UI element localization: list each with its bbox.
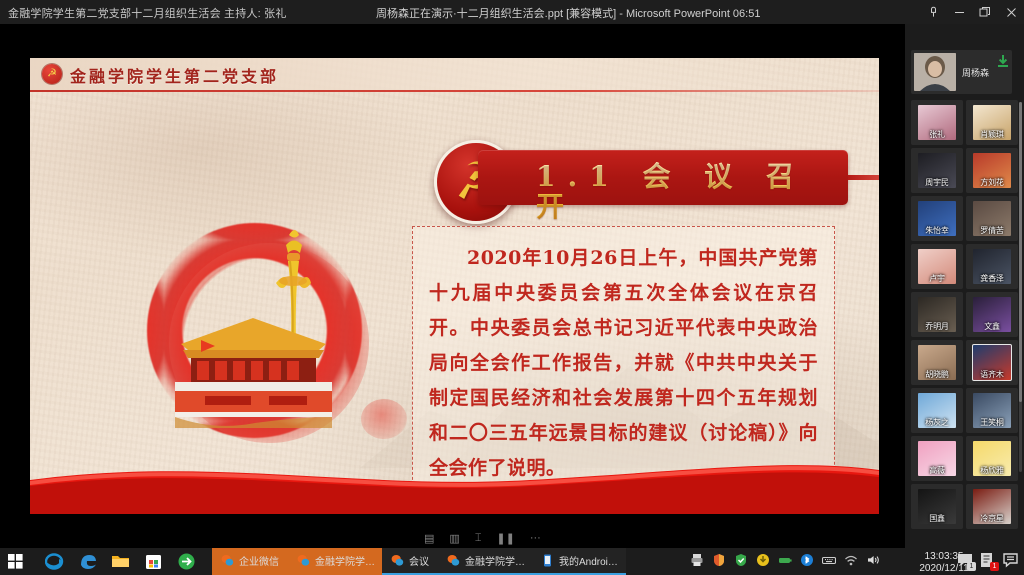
self-video-tile[interactable]: 周杨森	[911, 50, 1012, 94]
party-emblem-small-icon: ☭	[42, 64, 62, 84]
green-browser-icon[interactable]	[177, 552, 196, 571]
participant-name-label: 罗倩苦	[966, 225, 1018, 236]
participant-tile[interactable]: 胡晓鹏	[911, 340, 963, 385]
save-icon[interactable]: ▤	[424, 532, 434, 545]
participant-tile[interactable]: 冷京星	[966, 484, 1018, 529]
participant-name-label: 周宇民	[911, 177, 963, 188]
pointer-icon[interactable]: ⌶	[475, 532, 482, 545]
participant-name-label: 文鑫	[966, 321, 1018, 332]
participant-tile[interactable]: 国鑫	[911, 484, 963, 529]
minimize-icon[interactable]	[946, 0, 972, 24]
start-button[interactable]	[8, 554, 23, 569]
section-title-text: 1.1 会 议 召 开	[536, 162, 848, 222]
keyboard-icon[interactable]	[822, 553, 836, 567]
close-icon[interactable]	[998, 0, 1024, 24]
wechat-work-icon	[221, 554, 234, 567]
printer-icon[interactable]	[690, 553, 704, 567]
store-icon[interactable]	[144, 552, 163, 571]
file-explorer-icon[interactable]	[111, 552, 130, 571]
participant-name-label: 胡晓鹏	[911, 369, 963, 380]
participant-name-label: 冷京星	[966, 513, 1018, 524]
participant-tile[interactable]: 杨灰之	[911, 388, 963, 433]
system-tray	[690, 553, 880, 567]
notification-area: 1 1	[957, 552, 1020, 569]
wifi-icon[interactable]	[844, 553, 858, 567]
participant-name-label: 王笑桐	[966, 417, 1018, 428]
participant-grid: 张礼肖颖琪周宇民方刘花朱怡幸罗倩苦卢宇龚香泽乔明月文鑫胡晓鹏语齐木杨灰之王笑桐高…	[911, 100, 1018, 529]
tiananmen-artwork	[125, 203, 415, 453]
taskbar-item-label: 金融学院学…	[315, 553, 375, 568]
download-icon[interactable]	[998, 55, 1008, 67]
participant-tile[interactable]: 张礼	[911, 100, 963, 145]
participant-name-label: 方刘花	[966, 177, 1018, 188]
participant-name-label: 朱怡幸	[911, 225, 963, 236]
taskbar-item[interactable]: 金融学院学…	[438, 548, 532, 575]
slide-stage: ☭ 金融学院学生第二党支部	[0, 24, 905, 548]
panel-scrollbar[interactable]	[1019, 102, 1022, 472]
taskbar-item[interactable]: 会议	[382, 548, 438, 575]
update-icon[interactable]	[756, 553, 770, 567]
pause-icon[interactable]: ❚❚	[496, 532, 514, 545]
window-titlebar: 金融学院学生第二党支部十二月组织生活会 主持人: 张礼 周杨森正在演示·十二月组…	[0, 0, 1024, 24]
annotate-icon[interactable]: ▥	[449, 532, 459, 545]
shield-color-icon[interactable]	[712, 553, 726, 567]
security-icon[interactable]	[734, 553, 748, 567]
participant-name-label: 杨欣雅	[966, 465, 1018, 476]
participant-tile[interactable]: 龚香泽	[966, 244, 1018, 289]
participant-name-label: 杨灰之	[911, 417, 963, 428]
tiananmen-gate-icon	[161, 308, 346, 428]
quick-launch-icons	[45, 552, 196, 571]
section-title-banner: 1.1 会 议 召 开	[478, 150, 848, 205]
meeting-subject-label: 金融学院学生第二党支部十二月组织生活会 主持人: 张礼	[8, 5, 287, 21]
avatar	[914, 53, 956, 91]
participant-name-label: 肖颖琪	[966, 129, 1018, 140]
participant-tile[interactable]: 高薇	[911, 436, 963, 481]
participant-tile[interactable]: 罗倩苦	[966, 196, 1018, 241]
participant-name-label: 张礼	[911, 129, 963, 140]
presenter-toolbar[interactable]: ▤ ▥ ⌶ ❚❚ ···	[424, 532, 541, 545]
window-title: 周杨森正在演示·十二月组织生活会.ppt [兼容模式] - Microsoft …	[376, 5, 760, 21]
notes-badge-count: 1	[990, 562, 999, 571]
red-ribbon-decor	[30, 450, 879, 514]
participant-tile[interactable]: 朱怡幸	[911, 196, 963, 241]
participant-tile[interactable]: 王笑桐	[966, 388, 1018, 433]
message-badge[interactable]: 1	[957, 552, 974, 569]
participant-tile[interactable]: 卢宇	[911, 244, 963, 289]
taskbar-item[interactable]: 企业微信	[212, 548, 288, 575]
powerpoint-slide[interactable]: ☭ 金融学院学生第二党支部	[30, 58, 879, 514]
wechat-work-icon	[297, 554, 310, 567]
participant-name-label: 卢宇	[911, 273, 963, 284]
action-center-icon[interactable]	[1003, 552, 1020, 569]
restore-icon[interactable]	[972, 0, 998, 24]
taskbar-item[interactable]: 金融学院学…	[288, 548, 382, 575]
banner-accent-line	[848, 175, 879, 180]
taskbar-item-label: 我的Androi…	[559, 553, 618, 568]
participant-panel: 周杨森 张礼肖颖琪周宇民方刘花朱怡幸罗倩苦卢宇龚香泽乔明月文鑫胡晓鹏语齐木杨灰之…	[905, 24, 1024, 548]
participant-tile[interactable]: 语齐木	[966, 340, 1018, 385]
taskbar-item[interactable]: 我的Androi…	[532, 548, 626, 575]
slide-header-label: 金融学院学生第二党支部	[70, 63, 279, 87]
participant-tile[interactable]: 周宇民	[911, 148, 963, 193]
ie-icon[interactable]	[45, 552, 64, 571]
participant-tile[interactable]: 乔明月	[911, 292, 963, 337]
participant-name-label: 高薇	[911, 465, 963, 476]
edge-icon[interactable]	[78, 552, 97, 571]
phone-icon	[541, 554, 554, 567]
taskbar-item-label: 会议	[409, 553, 429, 568]
participant-name-label: 语齐木	[966, 369, 1018, 380]
taskbar-item-label: 企业微信	[239, 553, 279, 568]
participant-name-label: 龚香泽	[966, 273, 1018, 284]
notes-badge[interactable]: 1	[980, 552, 997, 569]
participant-name-label: 乔明月	[911, 321, 963, 332]
pin-icon[interactable]	[920, 0, 946, 24]
participant-tile[interactable]: 文鑫	[966, 292, 1018, 337]
more-icon[interactable]: ···	[530, 532, 541, 545]
participant-tile[interactable]: 肖颖琪	[966, 100, 1018, 145]
participant-tile[interactable]: 杨欣雅	[966, 436, 1018, 481]
participant-name-label: 国鑫	[911, 513, 963, 524]
message-badge-count: 1	[967, 562, 976, 571]
participant-tile[interactable]: 方刘花	[966, 148, 1018, 193]
slide-header: ☭ 金融学院学生第二党支部	[30, 58, 879, 91]
wechat-work-icon	[391, 554, 404, 567]
bluetooth-icon[interactable]	[800, 553, 814, 567]
window-controls	[920, 0, 1024, 24]
battery-icon[interactable]	[778, 553, 792, 567]
volume-icon[interactable]	[866, 553, 880, 567]
taskbar-item-label: 金融学院学…	[465, 553, 525, 568]
self-name-label: 周杨森	[962, 66, 989, 79]
presentation-window: 金融学院学生第二党支部十二月组织生活会 主持人: 张礼 周杨森正在演示·十二月组…	[0, 0, 1024, 575]
wechat-work-icon	[447, 554, 460, 567]
taskbar-task-list: 企业微信金融学院学…会议金融学院学…我的Androi…	[212, 548, 626, 575]
windows-taskbar: 企业微信金融学院学…会议金融学院学…我的Androi… 13:03:35 202…	[0, 548, 1024, 575]
